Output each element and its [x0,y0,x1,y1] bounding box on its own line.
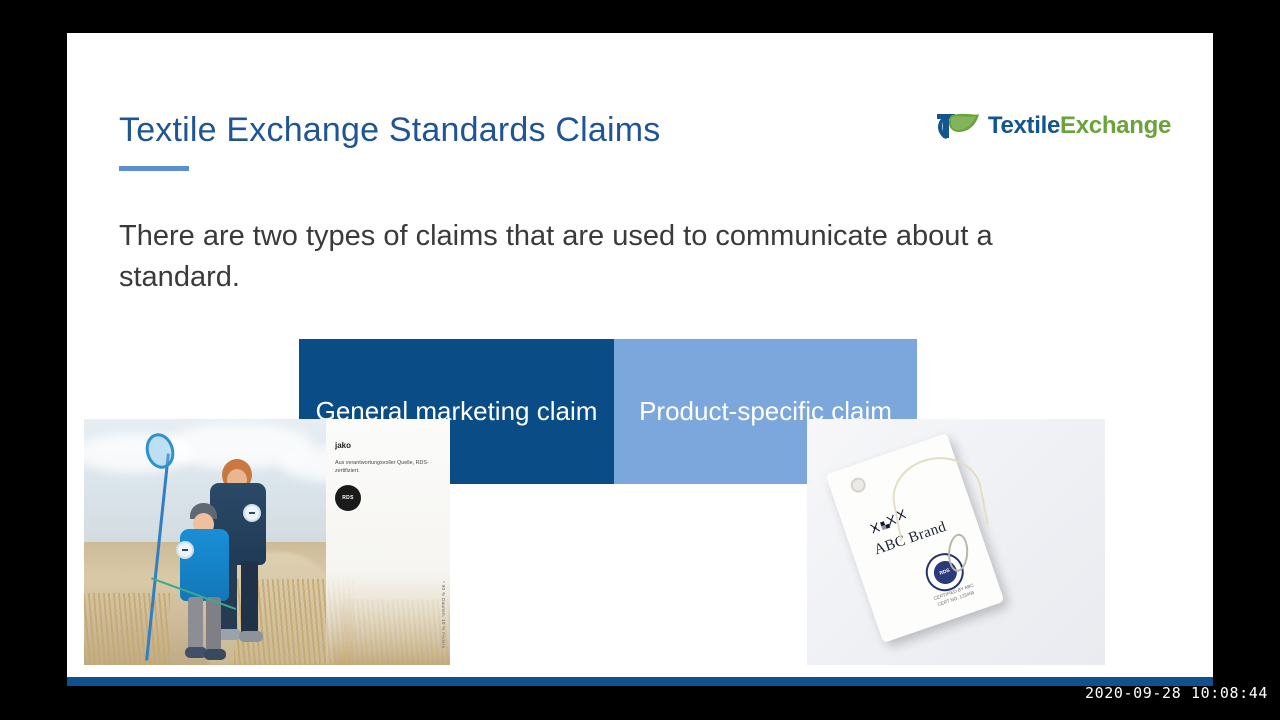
photo-leg [188,597,203,653]
photo-grass [84,593,170,665]
page-title: Textile Exchange Standards Claims [119,111,660,150]
title-accent-rule [119,166,189,171]
photo-jacket-button [243,504,261,522]
video-progress-bar[interactable] [67,677,1213,686]
ad-brand-label: jako [335,441,351,450]
hangtag-hole [849,476,868,495]
photo-shoe [239,631,263,642]
catalog-photo-image: jako Aus verantwortungsvoller Quelle, RD… [84,419,450,665]
rds-badge-label: RDS [342,495,353,501]
logo-wordmark: TextileExchange [988,112,1171,140]
title-block: Textile Exchange Standards Claims [119,111,660,171]
textile-exchange-logo: TextileExchange [935,108,1171,144]
textile-exchange-leaf-mark [935,108,981,144]
body-paragraph: There are two types of claims that are u… [119,216,1049,298]
logo-text-secondary: Exchange [1060,112,1171,139]
photo-leg [206,597,221,653]
hangtag-metal-ring [947,533,969,572]
ad-side-note: * 90 % Daunen, 10 % Federn [441,581,446,649]
product-hangtag: ABC Brand RDS CERTIFIED BY ABC CERT NO. … [826,433,1005,643]
video-progress-fill [67,677,1213,686]
logo-text-primary: Textile [988,112,1060,139]
hangtag-photo-image: ABC Brand RDS CERTIFIED BY ABC CERT NO. … [807,419,1105,665]
rds-badge-icon: RDS [335,485,361,511]
video-player-screen: Textile Exchange Standards Claims Textil… [0,0,1280,720]
presentation-slide: Textile Exchange Standards Claims Textil… [67,33,1213,678]
timestamp-overlay: 2020-09-28 10:08:44 [1085,684,1268,702]
hangtag-string [886,450,989,542]
catalog-ad-panel: jako Aus verantwortungsvoller Quelle, RD… [326,419,450,665]
ad-claim-text: Aus verantwortungsvoller Quelle, RDS-zer… [335,459,439,475]
photo-shoe [204,649,226,660]
